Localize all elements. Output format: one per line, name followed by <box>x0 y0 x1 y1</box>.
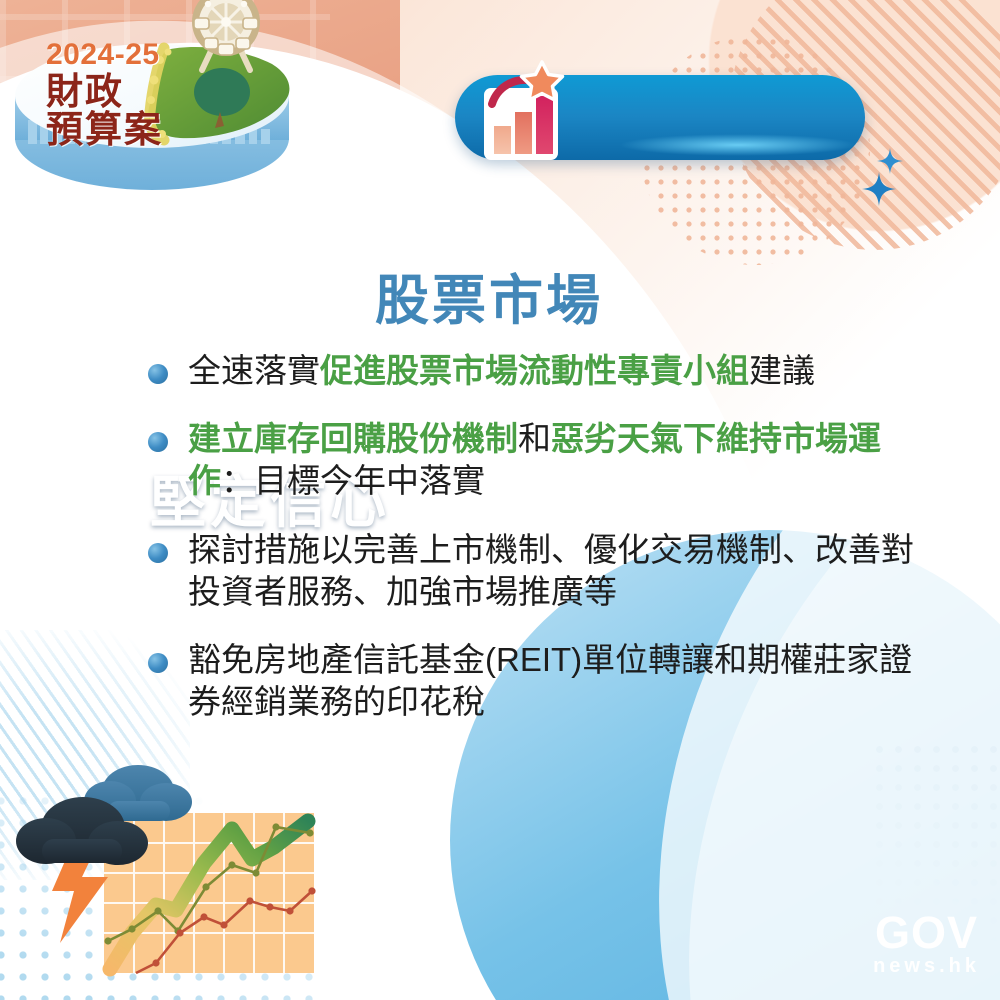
bullet-text-4: 豁免房地產信託基金(REIT)單位轉讓和期權莊家證券經銷業務的印花稅 <box>188 639 938 723</box>
emblem-line-1: 財政 <box>46 73 206 110</box>
list-item: 全速落實促進股票市場流動性專責小組建議 <box>148 350 938 392</box>
blue-sphere-bullet-icon <box>148 432 168 452</box>
infographic-poster: 2024-25 財政 預算案 堅定信心 <box>0 0 1000 1000</box>
blue-sphere-bullet-icon <box>148 543 168 563</box>
emblem-text-block: 2024-25 財政 預算案 <box>46 40 206 148</box>
emblem-line-2: 預算案 <box>46 111 206 148</box>
bar-chart-star-icon <box>470 60 570 165</box>
budget-emblem: 2024-25 財政 預算案 <box>4 0 304 223</box>
highlighted-text: 建立庫存回購股份機制 <box>188 420 518 457</box>
list-item: 探討措施以完善上市機制、優化交易機制、改善對投資者服務、加強市場推廣等 <box>148 529 938 613</box>
plain-text: 探討措施以完善上市機制、優化交易機制、改善對投資者服務、加強市場推廣等 <box>188 531 914 610</box>
plain-text: 和 <box>518 420 551 457</box>
bullet-text-1: 全速落實促進股票市場流動性專責小組建議 <box>188 350 938 392</box>
blue-sphere-bullet-icon <box>148 653 168 673</box>
plain-text: 全速落實 <box>188 352 320 389</box>
sparkle-icon-small <box>862 172 896 211</box>
highlighted-text: 促進股票市場流動性專責小組 <box>320 352 749 389</box>
emblem-year: 2024-25 <box>46 40 206 70</box>
bullet-text-2: 建立庫存回購股份機制和惡劣天氣下維持市場運作：目標今年中落實 <box>188 418 938 502</box>
bullet-text-3: 探討措施以完善上市機制、優化交易機制、改善對投資者服務、加強市場推廣等 <box>188 529 938 613</box>
gov-news-hk-logo: GOV news.hk <box>873 910 980 976</box>
storm-cloud-rising-chart-illustration <box>8 755 348 1000</box>
pill-glow-decoration <box>619 134 857 156</box>
logo-sub-text: news.hk <box>873 956 980 976</box>
page-title: 股票市場 <box>375 256 603 335</box>
plain-text: 豁免房地產信託基金(REIT)單位轉讓和期權莊家證券經銷業務的印花稅 <box>188 641 912 720</box>
plain-text: ：目標今年中落實 <box>221 462 485 499</box>
list-item: 建立庫存回購股份機制和惡劣天氣下維持市場運作：目標今年中落實 <box>148 418 938 502</box>
list-item: 豁免房地產信託基金(REIT)單位轉讓和期權莊家證券經銷業務的印花稅 <box>148 639 938 723</box>
logo-main-text: GOV <box>873 910 980 955</box>
blue-sphere-bullet-icon <box>148 364 168 384</box>
plain-text: 建議 <box>749 352 815 389</box>
bullet-list: 全速落實促進股票市場流動性專責小組建議 建立庫存回購股份機制和惡劣天氣下維持市場… <box>148 350 938 750</box>
